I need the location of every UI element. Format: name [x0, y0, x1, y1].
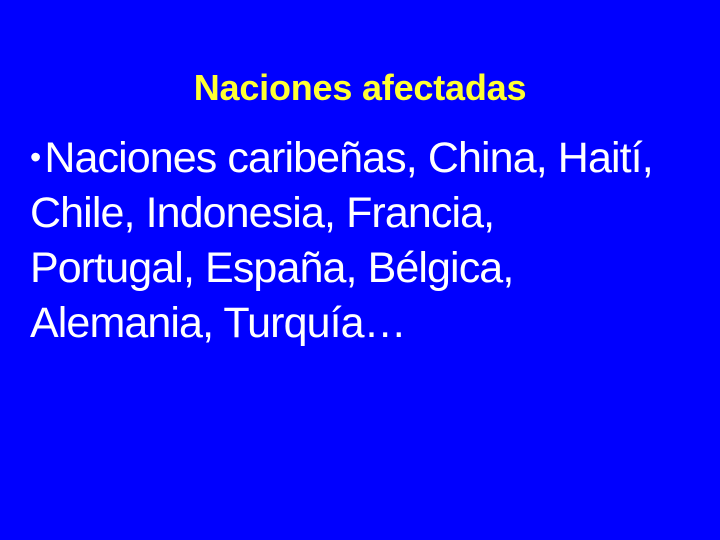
page-title: Naciones afectadas [0, 66, 720, 110]
list-item-continuation: Alemania, Turquía… [30, 296, 720, 351]
list-item-continuation: Portugal, España, Bélgica, [30, 241, 720, 296]
list-item-text: Alemania, Turquía… [30, 299, 406, 347]
list-item-text: Portugal, España, Bélgica, [30, 244, 513, 292]
list-item-text: Chile, Indonesia, Francia, [30, 189, 494, 237]
list-item-text: Naciones caribeñas, China, Haití, [44, 134, 652, 182]
list-item: •Naciones caribeñas, China, Haití, [30, 130, 720, 186]
list-item-continuation: Chile, Indonesia, Francia, [30, 186, 720, 241]
presentation-slide: Naciones afectadas •Naciones caribeñas, … [0, 0, 720, 540]
bullet-list: •Naciones caribeñas, China, Haití, Chile… [30, 130, 720, 351]
bullet-icon: • [30, 130, 40, 185]
